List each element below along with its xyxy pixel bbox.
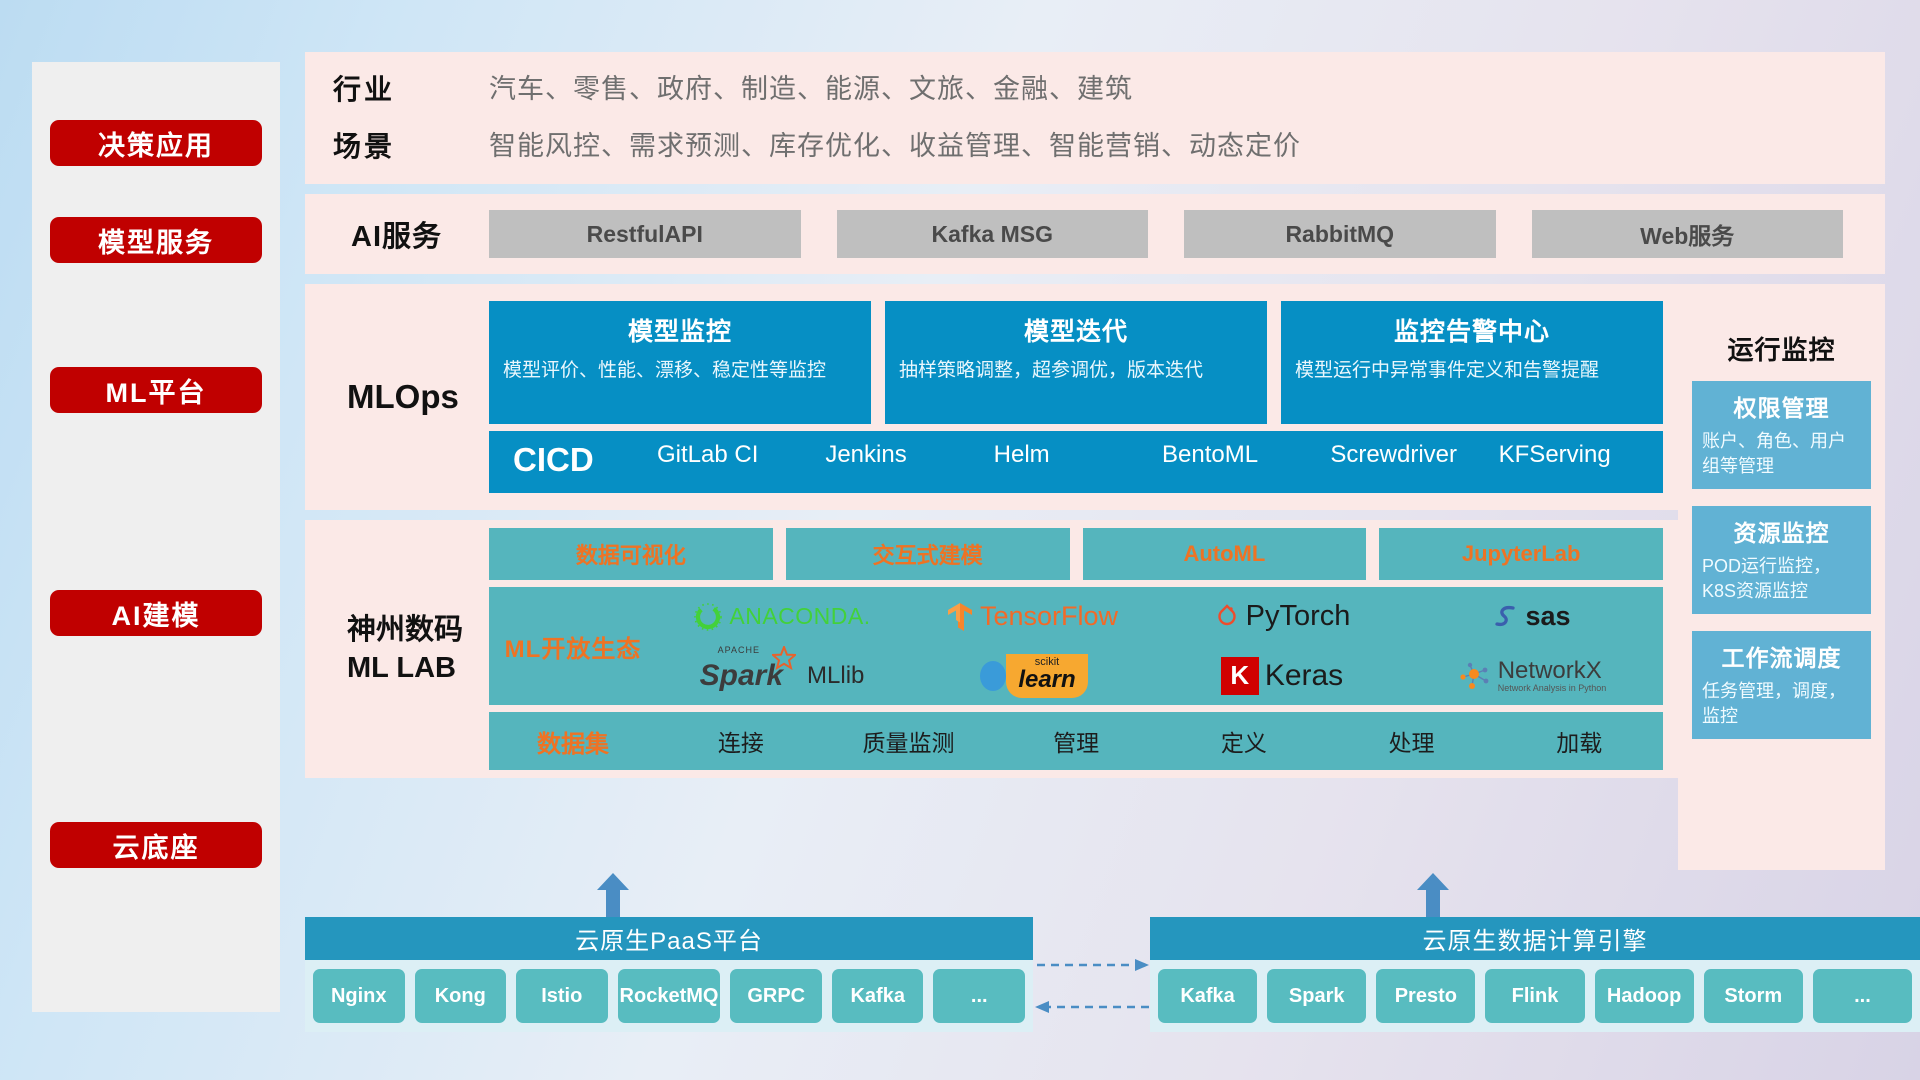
paas-chip-row: Nginx Kong Istio RocketMQ GRPC Kafka ... <box>305 960 1033 1032</box>
data-engine-title: 云原生数据计算引擎 <box>1150 917 1920 960</box>
tool-chip-data-visualization[interactable]: 数据可视化 <box>489 528 773 580</box>
ai-service-section-label: AI服务 <box>329 213 489 255</box>
networkx-mark-icon <box>1458 661 1492 691</box>
mllib-wordmark: MLlib <box>807 662 864 690</box>
pytorch-wordmark: PyTorch <box>1246 600 1351 633</box>
paas-chip-istio[interactable]: Istio <box>516 969 608 1023</box>
card-title: 监控告警中心 <box>1295 312 1649 348</box>
card-desc: 抽样策略调整，超参调优，版本迭代 <box>899 357 1253 384</box>
data-engine-chip-storm[interactable]: Storm <box>1704 969 1803 1023</box>
data-engine-chip-row: Kafka Spark Presto Flink Hadoop Storm ..… <box>1150 960 1920 1032</box>
architecture-diagram: 决策应用 模型服务 ML平台 AI建模 云底座 行业 场景 汽车、零售、政府、制… <box>0 0 1920 1080</box>
ml-open-ecosystem-row: ML开放生态 ANACONDA. <box>489 587 1663 705</box>
paas-chip-kong[interactable]: Kong <box>415 969 507 1023</box>
left-layer-rail: 决策应用 模型服务 ML平台 AI建模 云底座 <box>32 62 280 1012</box>
mlops-content: MLOps 模型监控 模型评价、性能、漂移、稳定性等监控 模型迭代 抽样策略调整… <box>305 284 1671 510</box>
sas-logo: sas <box>1493 601 1570 632</box>
rail-label: AI建模 <box>112 594 201 633</box>
spark-wordmark: Spark <box>700 659 783 692</box>
rail-item-model-service[interactable]: 模型服务 <box>50 217 262 263</box>
rail-label: 模型服务 <box>98 221 214 260</box>
rail-label: ML平台 <box>106 371 207 410</box>
sas-wordmark: sas <box>1525 601 1570 632</box>
spark-apache-text: APACHE <box>718 645 760 655</box>
runtime-monitoring-column: 运行监控 权限管理 账户、角色、用户组等管理 资源监控 POD运行监控，K8S资… <box>1678 318 1885 870</box>
card-title: 工作流调度 <box>1702 639 1861 673</box>
band-ai-service: AI服务 RestfulAPI Kafka MSG RabbitMQ Web服务 <box>305 194 1885 274</box>
networkx-wordmark: NetworkX <box>1498 658 1607 683</box>
rail-item-cloud-base[interactable]: 云底座 <box>50 822 262 868</box>
ai-service-chip-restfulapi[interactable]: RestfulAPI <box>489 210 801 258</box>
card-title: 资源监控 <box>1702 514 1861 548</box>
data-engine-chip-spark[interactable]: Spark <box>1267 969 1366 1023</box>
card-desc: POD运行监控，K8S资源监控 <box>1702 554 1861 604</box>
paas-chip-rocketmq[interactable]: RocketMQ <box>618 969 721 1023</box>
modeling-section-label-line1: 神州数码 <box>347 611 489 649</box>
paas-title: 云原生PaaS平台 <box>305 917 1033 960</box>
pytorch-mark-icon <box>1214 602 1240 632</box>
cicd-item-bentoml[interactable]: BentoML <box>1158 440 1326 470</box>
ai-service-chip-web-service[interactable]: Web服务 <box>1532 210 1844 258</box>
paas-chip-grpc[interactable]: GRPC <box>730 969 822 1023</box>
monitor-card-permission-management[interactable]: 权限管理 账户、角色、用户组等管理 <box>1692 381 1871 489</box>
tensorflow-logo: TensorFlow <box>946 601 1118 633</box>
data-engine-chip-flink[interactable]: Flink <box>1485 969 1584 1023</box>
spark-star-icon <box>772 646 796 670</box>
card-desc: 模型运行中异常事件定义和告警提醒 <box>1295 357 1649 384</box>
cicd-item-helm[interactable]: Helm <box>990 440 1158 470</box>
card-desc: 任务管理，调度，监控 <box>1702 679 1861 729</box>
tensorflow-mark-icon <box>946 601 974 633</box>
apps-row-label-scenario: 场景 <box>333 118 453 175</box>
tensorflow-wordmark: TensorFlow <box>980 601 1118 632</box>
networkx-logo: NetworkX Network Analysis in Python <box>1458 658 1607 693</box>
ai-service-chip-row: RestfulAPI Kafka MSG RabbitMQ Web服务 <box>489 210 1861 258</box>
cloud-native-data-engine-block: 云原生数据计算引擎 Kafka Spark Presto Flink Hadoo… <box>1150 917 1920 1032</box>
tool-chip-automl[interactable]: AutoML <box>1083 528 1367 580</box>
rail-item-ai-modeling[interactable]: AI建模 <box>50 590 262 636</box>
mlops-card-alert-center[interactable]: 监控告警中心 模型运行中异常事件定义和告警提醒 <box>1281 301 1663 424</box>
ecosystem-logo-grid: ANACONDA. TensorFlow <box>657 587 1663 705</box>
card-title: 权限管理 <box>1702 389 1861 423</box>
modeling-section-label: 神州数码 ML LAB <box>329 611 489 687</box>
ai-service-chip-kafka-msg[interactable]: Kafka MSG <box>837 210 1149 258</box>
modeling-stack: 数据可视化 交互式建模 AutoML JupyterLab ML开放生态 <box>489 528 1671 770</box>
apps-label-column: 行业 场景 <box>333 61 453 175</box>
keras-logo: K Keras <box>1221 657 1343 695</box>
pytorch-logo: PyTorch <box>1214 600 1351 633</box>
anaconda-wordmark: ANACONDA. <box>729 603 870 630</box>
dataset-item-row: 连接 质量监测 管理 定义 处理 加载 <box>657 724 1663 758</box>
anaconda-mark-icon <box>693 602 723 632</box>
up-arrow-icon-data-engine <box>1415 873 1451 917</box>
rail-label: 云底座 <box>113 826 200 865</box>
apps-row-value-scenario: 智能风控、需求预测、库存优化、收益管理、智能营销、动态定价 <box>489 118 1301 175</box>
dataset-item-define[interactable]: 定义 <box>1160 724 1328 758</box>
monitor-card-resource-monitoring[interactable]: 资源监控 POD运行监控，K8S资源监控 <box>1692 506 1871 614</box>
cicd-item-row: GitLab CI Jenkins Helm BentoML Screwdriv… <box>653 440 1663 470</box>
data-engine-chip-presto[interactable]: Presto <box>1376 969 1475 1023</box>
rail-label: 决策应用 <box>98 124 214 163</box>
cicd-item-jenkins[interactable]: Jenkins <box>821 440 989 470</box>
modeling-section-label-line2: ML LAB <box>347 649 489 687</box>
dataset-label: 数据集 <box>489 724 657 759</box>
card-desc: 账户、角色、用户组等管理 <box>1702 429 1861 479</box>
data-engine-chip-hadoop[interactable]: Hadoop <box>1595 969 1694 1023</box>
paas-chip-more[interactable]: ... <box>933 969 1025 1023</box>
scikit-learn-logo: scikit learn <box>976 654 1087 698</box>
tool-chip-interactive-modeling[interactable]: 交互式建模 <box>786 528 1070 580</box>
dataset-item-process[interactable]: 处理 <box>1328 724 1496 758</box>
networkx-tagline: Network Analysis in Python <box>1498 683 1607 693</box>
main-stack: 行业 场景 汽车、零售、政府、制造、能源、文旅、金融、建筑 智能风控、需求预测、… <box>305 52 1885 788</box>
apps-value-column: 汽车、零售、政府、制造、能源、文旅、金融、建筑 智能风控、需求预测、库存优化、收… <box>453 61 1301 175</box>
bidirectional-dashed-arrow-icon <box>1033 953 1153 1023</box>
runtime-monitoring-title: 运行监控 <box>1692 330 1871 367</box>
anaconda-logo: ANACONDA. <box>693 602 870 632</box>
monitor-card-workflow-scheduling[interactable]: 工作流调度 任务管理，调度，监控 <box>1692 631 1871 739</box>
up-arrow-icon-paas <box>595 873 631 917</box>
spark-mllib-logo: APACHE Spark MLlib <box>700 659 865 693</box>
dataset-item-connect[interactable]: 连接 <box>657 724 825 758</box>
learn-text: learn <box>1018 668 1075 692</box>
cicd-bar: CICD GitLab CI Jenkins Helm BentoML Scre… <box>489 431 1663 493</box>
data-engine-chip-more[interactable]: ... <box>1813 969 1912 1023</box>
band-mlops: MLOps 模型监控 模型评价、性能、漂移、稳定性等监控 模型迭代 抽样策略调整… <box>305 284 1885 510</box>
mlops-card-model-monitoring[interactable]: 模型监控 模型评价、性能、漂移、稳定性等监控 <box>489 301 871 424</box>
tool-chip-jupyterlab[interactable]: JupyterLab <box>1379 528 1663 580</box>
rail-item-decision-apps[interactable]: 决策应用 <box>50 120 262 166</box>
paas-chip-nginx[interactable]: Nginx <box>313 969 405 1023</box>
dataset-item-load[interactable]: 加载 <box>1495 724 1663 758</box>
ai-service-chip-rabbitmq[interactable]: RabbitMQ <box>1184 210 1496 258</box>
mlops-stack: 模型监控 模型评价、性能、漂移、稳定性等监控 模型迭代 抽样策略调整，超参调优，… <box>489 301 1671 493</box>
keras-wordmark: Keras <box>1265 659 1343 693</box>
dataset-item-manage[interactable]: 管理 <box>992 724 1160 758</box>
mlops-card-row: 模型监控 模型评价、性能、漂移、稳定性等监控 模型迭代 抽样策略调整，超参调优，… <box>489 301 1663 424</box>
mlops-card-model-iteration[interactable]: 模型迭代 抽样策略调整，超参调优，版本迭代 <box>885 301 1267 424</box>
card-title: 模型迭代 <box>899 312 1253 348</box>
cicd-item-gitlab-ci[interactable]: GitLab CI <box>653 440 821 470</box>
apps-row-value-industry: 汽车、零售、政府、制造、能源、文旅、金融、建筑 <box>489 61 1301 118</box>
mlops-section-label: MLOps <box>329 378 489 416</box>
cicd-item-kfserving[interactable]: KFServing <box>1495 440 1663 470</box>
cloud-foundation-section: 云原生PaaS平台 Nginx Kong Istio RocketMQ GRPC… <box>305 895 1920 1055</box>
sas-mark-icon <box>1493 603 1519 631</box>
data-engine-chip-kafka[interactable]: Kafka <box>1158 969 1257 1023</box>
card-desc: 模型评价、性能、漂移、稳定性等监控 <box>503 357 857 384</box>
modeling-content: 神州数码 ML LAB 数据可视化 交互式建模 AutoML JupyterLa… <box>305 520 1671 778</box>
ml-open-ecosystem-label: ML开放生态 <box>489 629 657 664</box>
band-ai-modeling: 神州数码 ML LAB 数据可视化 交互式建模 AutoML JupyterLa… <box>305 520 1885 778</box>
keras-mark-icon: K <box>1221 657 1259 695</box>
dataset-row: 数据集 连接 质量监测 管理 定义 处理 加载 <box>489 712 1663 770</box>
modeling-tool-row: 数据可视化 交互式建模 AutoML JupyterLab <box>489 528 1663 580</box>
rail-item-ml-platform[interactable]: ML平台 <box>50 367 262 413</box>
apps-row-label-industry: 行业 <box>333 61 453 118</box>
band-decision-apps: 行业 场景 汽车、零售、政府、制造、能源、文旅、金融、建筑 智能风控、需求预测、… <box>305 52 1885 184</box>
cicd-title: CICD <box>513 440 653 480</box>
cicd-item-screwdriver[interactable]: Screwdriver <box>1326 440 1494 470</box>
scikit-blue-blob-icon <box>976 659 1010 693</box>
paas-chip-kafka[interactable]: Kafka <box>832 969 924 1023</box>
card-title: 模型监控 <box>503 312 857 348</box>
cloud-native-paas-block: 云原生PaaS平台 Nginx Kong Istio RocketMQ GRPC… <box>305 917 1033 1032</box>
dataset-item-quality[interactable]: 质量监测 <box>825 724 993 758</box>
